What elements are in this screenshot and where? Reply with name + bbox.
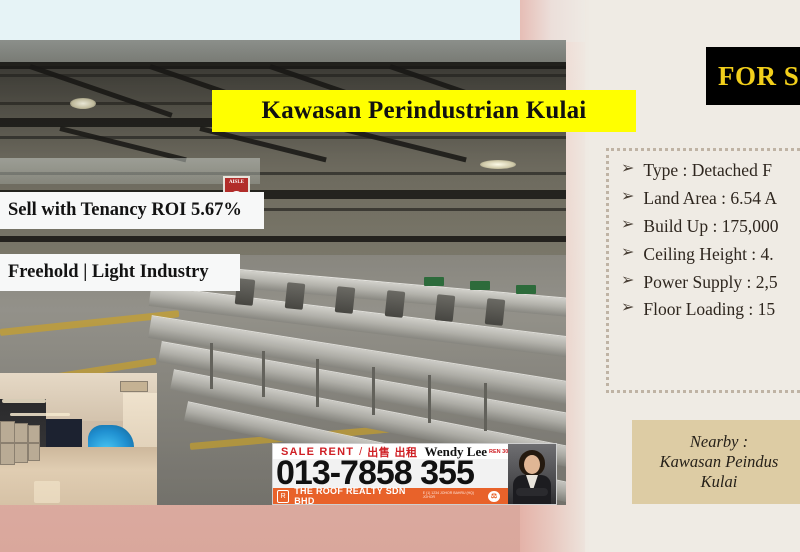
company-name: THE ROOF REALTY SDN BHD: [294, 486, 419, 505]
realty-logo-icon: R: [277, 490, 289, 503]
spec-item: ➢ Build Up : 175,000: [621, 217, 800, 235]
lobby-corridor-photo: [0, 373, 157, 505]
spec-item: ➢ Land Area : 6.54 A: [621, 189, 800, 207]
spec-item-text: Floor Loading : 15: [643, 300, 775, 318]
company-subtext: E (1) 1234 JOHOR BAHRU (HQ) JOHOR: [423, 492, 483, 500]
spec-item-text: Ceiling Height : 4.: [643, 245, 773, 263]
highlight-roi-box: Sell with Tenancy ROI 5.67%: [0, 192, 264, 229]
association-badge-icon: ⚖: [488, 491, 500, 502]
spec-item-text: Power Supply : 2,5: [643, 273, 777, 291]
arrow-bullet-icon: ➢: [621, 161, 634, 178]
spec-item: ➢ Ceiling Height : 4.: [621, 245, 800, 263]
arrow-bullet-icon: ➢: [621, 189, 634, 206]
spec-item-text: Land Area : 6.54 A: [643, 189, 777, 207]
spec-item: ➢ Floor Loading : 15: [621, 300, 800, 318]
highlight-tenure-label: Freehold | Light Industry: [8, 262, 209, 283]
agent-portrait: [508, 444, 556, 505]
nearby-line-3: Kulai: [701, 472, 738, 492]
highlight-tenure-box: Freehold | Light Industry: [0, 254, 240, 291]
background-top-band: [0, 0, 585, 42]
nearby-box: Nearby : Kawasan Peindus Kulai: [632, 420, 800, 504]
spec-item-text: Build Up : 175,000: [643, 217, 778, 235]
arrow-bullet-icon: ➢: [621, 300, 634, 317]
nearby-heading: Nearby :: [690, 432, 748, 452]
for-sale-label: FOR S: [718, 61, 799, 92]
poster-canvas: AISLE 8: [0, 0, 800, 552]
arrow-bullet-icon: ➢: [621, 273, 634, 290]
nearby-line-2: Kawasan Peindus: [660, 452, 779, 472]
spec-item: ➢ Type : Detached F: [621, 161, 800, 179]
spec-item-text: Type : Detached F: [643, 161, 772, 179]
agent-contact-banner[interactable]: SALE RENT / 出售 出租 Wendy Lee REN 30008 01…: [272, 443, 557, 505]
for-sale-badge: FOR S: [706, 47, 800, 105]
highlight-roi-label: Sell with Tenancy ROI 5.67%: [8, 200, 242, 221]
arrow-bullet-icon: ➢: [621, 245, 634, 262]
property-title-banner: Kawasan Perindustrian Kulai: [212, 90, 636, 132]
specifications-list: ➢ Type : Detached F ➢ Land Area : 6.54 A…: [606, 148, 800, 393]
arrow-bullet-icon: ➢: [621, 217, 634, 234]
spec-item: ➢ Power Supply : 2,5: [621, 273, 800, 291]
property-title: Kawasan Perindustrian Kulai: [262, 97, 587, 125]
